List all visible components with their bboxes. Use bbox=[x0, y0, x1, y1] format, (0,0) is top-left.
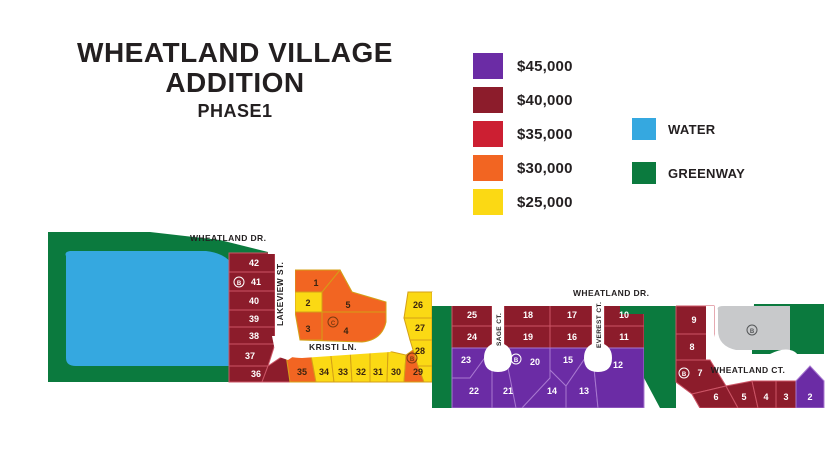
amenity-pad bbox=[718, 306, 790, 350]
lot-label-5-east: 5 bbox=[741, 392, 746, 402]
legend-label: $25,000 bbox=[517, 194, 573, 211]
lot-label-16: 16 bbox=[567, 332, 577, 342]
legend-swatch-icon bbox=[473, 189, 503, 215]
lot-label-3-east: 3 bbox=[783, 392, 788, 402]
legend-label: GREENWAY bbox=[668, 166, 745, 181]
legend-item-35000: $35,000 bbox=[473, 118, 573, 150]
lot-label-40: 40 bbox=[249, 296, 259, 306]
lot-label-37: 37 bbox=[245, 351, 255, 361]
lot-label-14: 14 bbox=[547, 386, 557, 396]
lot-label-17: 17 bbox=[567, 310, 577, 320]
price-legend: $45,000 $40,000 $35,000 $30,000 $25,000 bbox=[473, 50, 573, 220]
lot-label-3: 3 bbox=[305, 324, 310, 334]
legend-label: WATER bbox=[668, 122, 715, 137]
legend-item-25000: $25,000 bbox=[473, 186, 573, 218]
legend-item-water: WATER bbox=[632, 107, 745, 151]
legend-swatch-icon bbox=[473, 87, 503, 113]
legend-item-greenway: GREENWAY bbox=[632, 151, 745, 195]
marker-b-amenity-label: B bbox=[750, 329, 755, 335]
street-label-wheatland-dr-east: WHEATLAND DR. bbox=[573, 288, 649, 298]
lot-label-32: 32 bbox=[356, 367, 366, 377]
lot-label-15: 15 bbox=[563, 355, 573, 365]
lot-label-12: 12 bbox=[613, 360, 623, 370]
plat-map-page: WHEATLAND VILLAGE ADDITION PHASE1 $45,00… bbox=[0, 0, 825, 464]
legend-label: $40,000 bbox=[517, 92, 573, 109]
lot-label-9: 9 bbox=[691, 315, 696, 325]
lot-label-41: 41 bbox=[251, 277, 261, 287]
lot-label-38: 38 bbox=[249, 331, 259, 341]
lot-label-4: 4 bbox=[343, 326, 348, 336]
greenway-center-west bbox=[432, 292, 452, 408]
lot-label-6: 6 bbox=[713, 392, 718, 402]
lot-label-7: 7 bbox=[697, 368, 702, 378]
legend-swatch-icon bbox=[473, 155, 503, 181]
street-label-everest-ct: EVEREST CT. bbox=[596, 302, 603, 348]
lot-label-21: 21 bbox=[503, 386, 513, 396]
lot-label-2: 2 bbox=[305, 298, 310, 308]
subdivision-map[interactable]: 42 41 40 39 38 37 36 35 34 33 32 31 30 2… bbox=[0, 218, 825, 408]
lot-label-20: 20 bbox=[530, 357, 540, 367]
street-label-lakeview-st: LAKEVIEW ST. bbox=[275, 262, 285, 326]
title-line-1: WHEATLAND VILLAGE bbox=[60, 38, 410, 68]
road-wheatland-dr-west bbox=[268, 238, 432, 254]
title-phase: PHASE1 bbox=[60, 101, 410, 122]
legend-swatch-icon bbox=[632, 118, 656, 140]
legend-label: $30,000 bbox=[517, 160, 573, 177]
legend-label: $45,000 bbox=[517, 58, 573, 75]
lot-label-24: 24 bbox=[467, 332, 477, 342]
lot-label-30: 30 bbox=[391, 367, 401, 377]
title-line-2: ADDITION bbox=[60, 68, 410, 98]
lot-label-31: 31 bbox=[373, 367, 383, 377]
lot-label-22: 22 bbox=[469, 386, 479, 396]
legend-item-45000: $45,000 bbox=[473, 50, 573, 82]
marker-b-lot41-label: B bbox=[237, 281, 242, 287]
lot-label-4-east: 4 bbox=[763, 392, 768, 402]
marker-c-lot4-label: C bbox=[331, 321, 336, 327]
marker-b-lot20-label: B bbox=[514, 358, 519, 364]
feature-legend: WATER GREENWAY bbox=[632, 107, 745, 195]
lot-block-center-upper[interactable] bbox=[452, 304, 644, 348]
legend-item-40000: $40,000 bbox=[473, 84, 573, 116]
lot-label-18: 18 bbox=[523, 310, 533, 320]
street-label-wheatland-dr-west: WHEATLAND DR. bbox=[190, 233, 266, 243]
greenway-center-east bbox=[644, 298, 676, 408]
street-label-kristi-ln: KRISTI LN. bbox=[309, 342, 357, 352]
lot-label-25: 25 bbox=[467, 310, 477, 320]
lot-label-10: 10 bbox=[619, 310, 629, 320]
lot-label-13: 13 bbox=[579, 386, 589, 396]
water-pond bbox=[66, 251, 239, 366]
lot-label-1: 1 bbox=[313, 278, 318, 288]
marker-b-lot29-label: B bbox=[410, 357, 415, 363]
lot-label-11: 11 bbox=[619, 332, 629, 342]
marker-b-lot7-label: B bbox=[682, 372, 687, 378]
legend-swatch-icon bbox=[473, 53, 503, 79]
lot-label-8: 8 bbox=[689, 342, 694, 352]
lot-31[interactable] bbox=[370, 349, 388, 382]
legend-swatch-icon bbox=[473, 121, 503, 147]
lot-label-28: 28 bbox=[415, 346, 425, 356]
lot-block-center-lower[interactable] bbox=[452, 348, 644, 408]
legend-label: $35,000 bbox=[517, 126, 573, 143]
lot-label-29: 29 bbox=[413, 367, 423, 377]
legend-item-30000: $30,000 bbox=[473, 152, 573, 184]
lot-label-23: 23 bbox=[461, 355, 471, 365]
page-title: WHEATLAND VILLAGE ADDITION PHASE1 bbox=[60, 38, 410, 122]
lot-label-35: 35 bbox=[297, 367, 307, 377]
lot-label-26: 26 bbox=[413, 300, 423, 310]
lot-label-19: 19 bbox=[523, 332, 533, 342]
legend-swatch-icon bbox=[632, 162, 656, 184]
lot-label-27: 27 bbox=[415, 323, 425, 333]
lot-label-33: 33 bbox=[338, 367, 348, 377]
lot-label-36: 36 bbox=[251, 369, 261, 379]
lot-label-2-east: 2 bbox=[807, 392, 812, 402]
lot-label-39: 39 bbox=[249, 314, 259, 324]
lot-36[interactable] bbox=[229, 366, 268, 382]
lot-label-5: 5 bbox=[345, 300, 350, 310]
lot-label-42: 42 bbox=[249, 258, 259, 268]
lot-label-34: 34 bbox=[319, 367, 329, 377]
street-label-sage-ct: SAGE CT. bbox=[496, 313, 503, 346]
street-label-wheatland-ct: WHEATLAND CT. bbox=[711, 365, 785, 375]
